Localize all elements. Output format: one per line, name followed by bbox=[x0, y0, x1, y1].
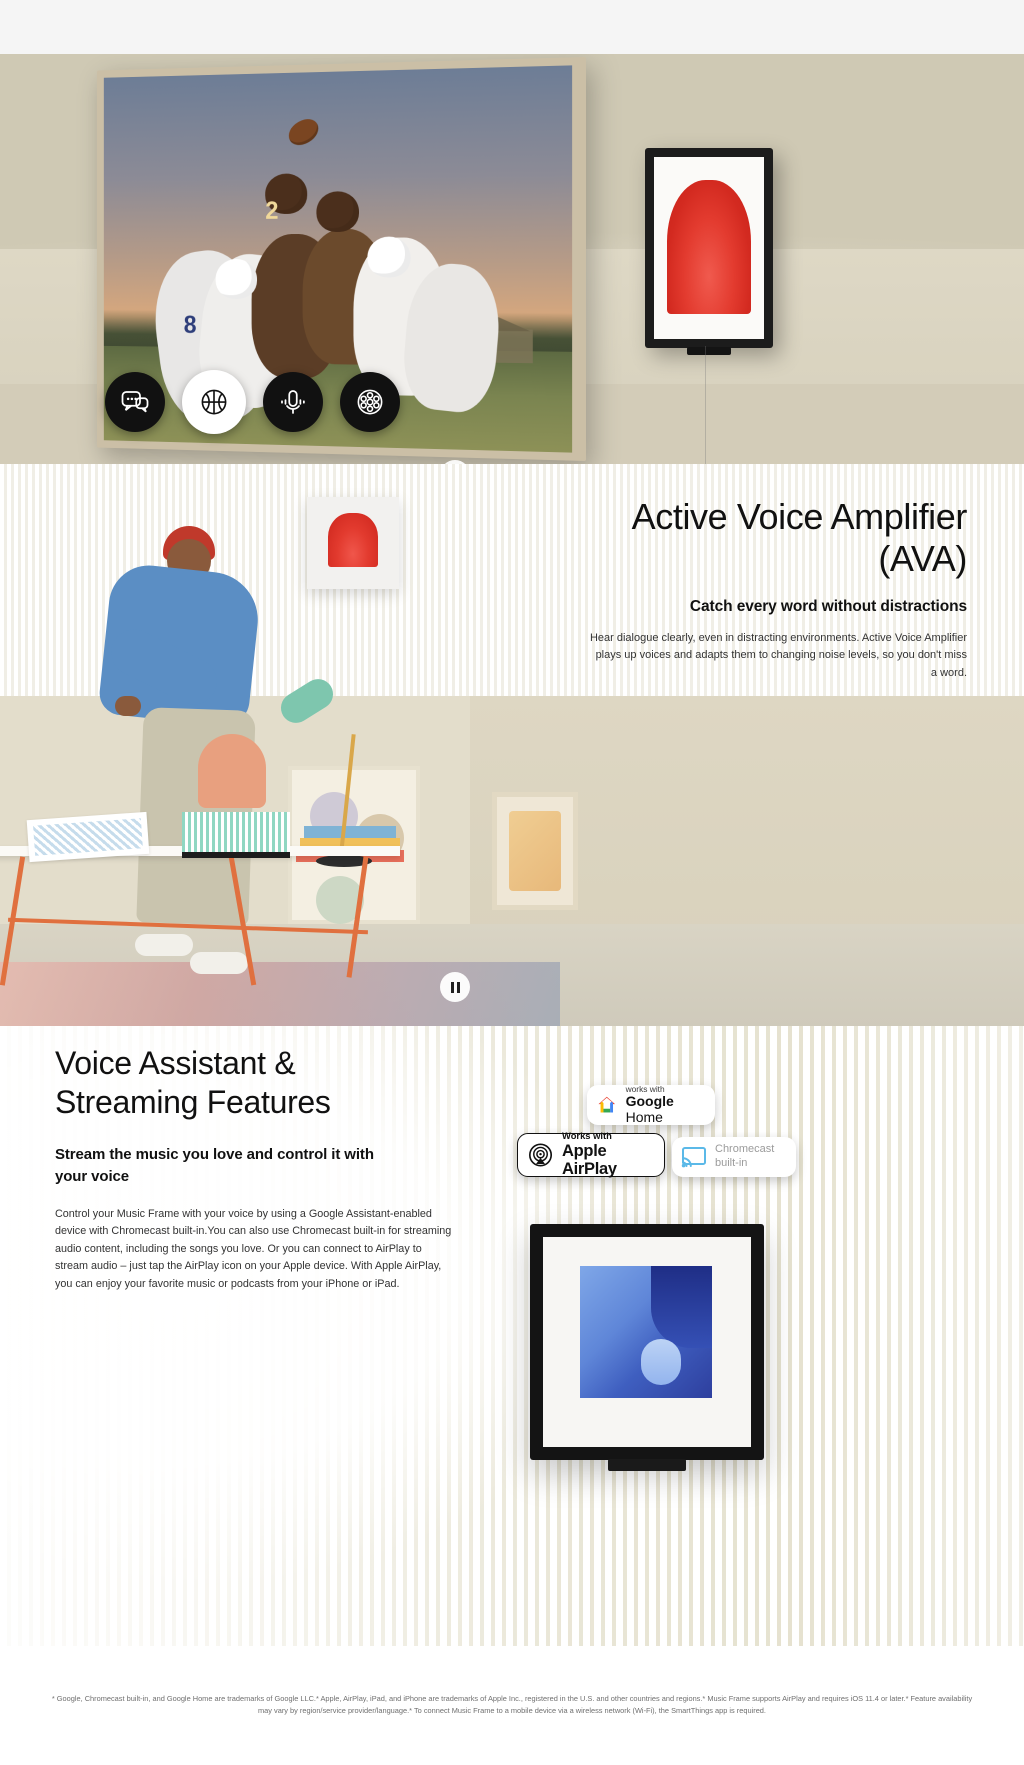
home-word: Home bbox=[626, 1109, 663, 1125]
ava-title-line1: Active Voice Amplifier bbox=[587, 496, 967, 538]
jersey-number: 8 bbox=[184, 310, 197, 339]
voice-subtitle-line2: your voice bbox=[55, 1166, 455, 1188]
badge-airplay-brand: Apple AirPlay bbox=[562, 1142, 653, 1178]
airplay-icon bbox=[529, 1142, 552, 1168]
shoe bbox=[135, 934, 193, 956]
badge-chromecast-builtin[interactable]: Chromecast built-in bbox=[672, 1137, 796, 1177]
leaning-picture-frame bbox=[492, 792, 578, 910]
hero-section: 8 2 bbox=[0, 54, 1024, 464]
book-stack bbox=[304, 826, 396, 838]
product-page: 8 2 bbox=[0, 0, 1024, 1765]
frame-stand bbox=[687, 347, 731, 355]
google-word: Google bbox=[626, 1093, 674, 1109]
voice-text-block: Voice Assistant & Streaming Features Str… bbox=[55, 1044, 455, 1293]
badge-google-brand: Google Home bbox=[626, 1094, 706, 1125]
google-home-icon bbox=[596, 1093, 618, 1117]
badge-google-home[interactable]: works with Google Home bbox=[587, 1085, 715, 1125]
sports-basketball-icon[interactable] bbox=[182, 370, 246, 434]
voice-amplifier-icon[interactable] bbox=[263, 372, 323, 432]
legal-disclaimer: * Google, Chromecast built-in, and Googl… bbox=[45, 1693, 979, 1717]
compatibility-badges: works with Google Home Works with Apple … bbox=[517, 1085, 817, 1195]
hero-mode-buttons[interactable] bbox=[105, 370, 400, 434]
audio-waveform bbox=[258, 549, 448, 589]
voice-title-line1: Voice Assistant & bbox=[55, 1044, 455, 1083]
voice-body: Control your Music Frame with your voice… bbox=[55, 1206, 455, 1293]
frame-stand bbox=[608, 1459, 686, 1471]
frame-artwork bbox=[580, 1266, 712, 1398]
artwork-paper bbox=[27, 812, 150, 862]
chair bbox=[198, 734, 266, 808]
ava-pause-button[interactable] bbox=[440, 972, 470, 1002]
pause-bar bbox=[457, 982, 460, 993]
marker-set bbox=[182, 812, 290, 858]
person-hand bbox=[115, 696, 141, 716]
rug bbox=[0, 962, 560, 1026]
chromecast-icon bbox=[681, 1146, 707, 1168]
badge-chromecast-line1: Chromecast bbox=[715, 1143, 774, 1157]
helmet bbox=[316, 191, 359, 232]
frame-artwork bbox=[667, 180, 751, 314]
helmet bbox=[368, 236, 411, 277]
audio-waveform bbox=[600, 406, 825, 464]
shoe bbox=[190, 952, 248, 974]
ava-body: Hear dialogue clearly, even in distracti… bbox=[587, 630, 967, 682]
dialogue-chat-icon[interactable] bbox=[105, 372, 165, 432]
voice-title-line2: Streaming Features bbox=[55, 1083, 455, 1122]
badge-chromecast-line2: built-in bbox=[715, 1157, 774, 1171]
music-frame-hero bbox=[645, 148, 773, 348]
pause-bar bbox=[451, 982, 454, 993]
ava-subtitle: Catch every word without distractions bbox=[587, 598, 967, 616]
ava-title-line2: (AVA) bbox=[587, 538, 967, 580]
badge-apple-airplay[interactable]: Works with Apple AirPlay bbox=[517, 1133, 665, 1177]
helmet bbox=[215, 259, 256, 299]
voice-subtitle-line1: Stream the music you love and control it… bbox=[55, 1144, 455, 1166]
jersey-number: 2 bbox=[265, 196, 278, 226]
top-strip bbox=[0, 0, 1024, 54]
badge-airplay-works: Works with bbox=[562, 1131, 653, 1142]
music-frame-product bbox=[530, 1224, 764, 1460]
movie-reel-icon[interactable] bbox=[340, 372, 400, 432]
ava-text-block: Active Voice Amplifier (AVA) Catch every… bbox=[587, 496, 967, 682]
